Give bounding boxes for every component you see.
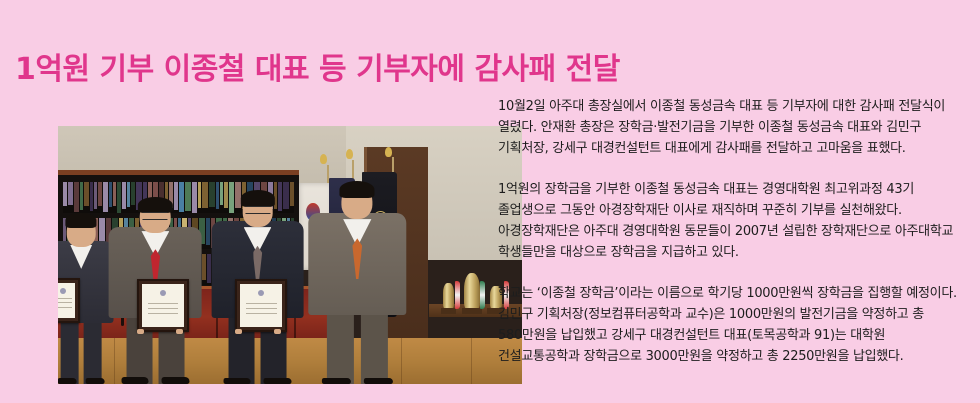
photo-scene xyxy=(58,126,522,384)
plaque-2 xyxy=(137,279,189,331)
article-body: 10월2일 아주대 총장실에서 이종철 동성금속 대표 등 기부자에 대한 감사… xyxy=(498,96,968,367)
plaque-3 xyxy=(235,279,287,333)
article-paragraph-2: 1억원의 장학금을 기부한 이종철 동성금속 대표는 경영대학원 최고위과정 4… xyxy=(498,179,968,263)
person-2 xyxy=(109,183,202,384)
person-4 xyxy=(309,170,406,384)
article-paragraph-1: 10월2일 아주대 총장실에서 이종철 동성금속 대표 등 기부자에 대한 감사… xyxy=(498,96,968,159)
plaque-1 xyxy=(58,278,80,323)
person-1 xyxy=(58,198,114,384)
article-photo xyxy=(58,126,522,384)
article-page: 1억원 기부 이종철 대표 등 기부자에 감사패 전달 xyxy=(0,0,980,403)
person-3 xyxy=(211,178,304,384)
article-paragraph-3: 학교는 ‘이종철 장학금’이라는 이름으로 학기당 1000만원씩 장학금을 집… xyxy=(498,283,968,367)
page-title: 1억원 기부 이종철 대표 등 기부자에 감사패 전달 xyxy=(15,48,955,92)
